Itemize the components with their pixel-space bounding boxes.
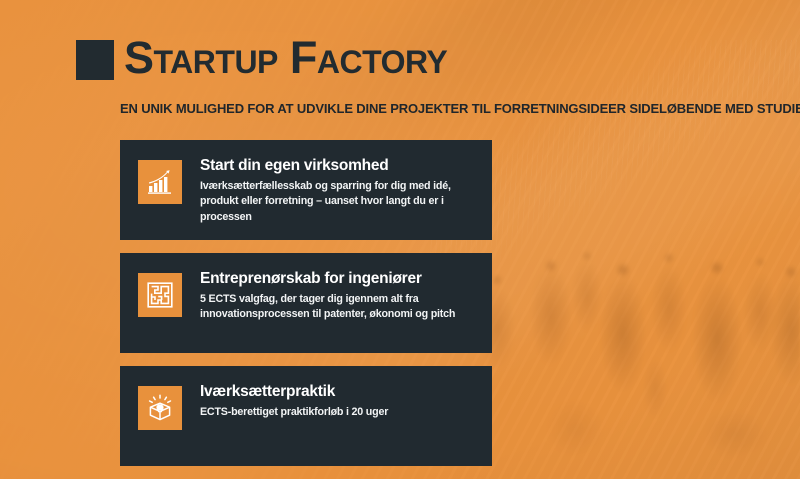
feature-card-description: ECTS-berettiget praktikforløb i 20 uger: [200, 405, 388, 421]
feature-card-title: Iværksætterpraktik: [200, 383, 388, 402]
poster-content: Startup Factory EN UNIK MULIGHED FOR AT …: [0, 0, 800, 479]
maze-labyrinth-icon: [138, 273, 182, 317]
page-title: Startup Factory: [124, 35, 447, 80]
poster-header: Startup Factory: [76, 34, 447, 80]
poster-root: Startup Factory EN UNIK MULIGHED FOR AT …: [0, 0, 800, 479]
idea-box-lightbulb-icon: [138, 386, 182, 430]
bar-chart-growth-icon: [138, 160, 182, 204]
feature-card-body: Start din egen virksomhed Iværksætterfæl…: [182, 140, 492, 225]
feature-card-body: Entreprenørskab for ingeniører 5 ECTS va…: [182, 253, 492, 323]
poster-subtitle: EN UNIK MULIGHED FOR AT UDVIKLE DINE PRO…: [120, 101, 800, 116]
feature-card-title: Entreprenørskab for ingeniører: [200, 270, 478, 289]
feature-card-start-din-egen-virksomhed[interactable]: Start din egen virksomhed Iværksætterfæl…: [120, 140, 492, 240]
feature-card-body: Iværksætterpraktik ECTS-berettiget prakt…: [182, 366, 402, 420]
feature-card-title: Start din egen virksomhed: [200, 157, 478, 176]
logo-square-icon: [76, 40, 114, 80]
feature-card-entreprenorskab-for-ingeniorer[interactable]: Entreprenørskab for ingeniører 5 ECTS va…: [120, 253, 492, 353]
feature-card-ivaerksaetterpraktik[interactable]: Iværksætterpraktik ECTS-berettiget prakt…: [120, 366, 492, 466]
feature-card-description: Iværksætterfællesskab og sparring for di…: [200, 179, 478, 226]
feature-card-description: 5 ECTS valgfag, der tager dig igennem al…: [200, 292, 478, 323]
